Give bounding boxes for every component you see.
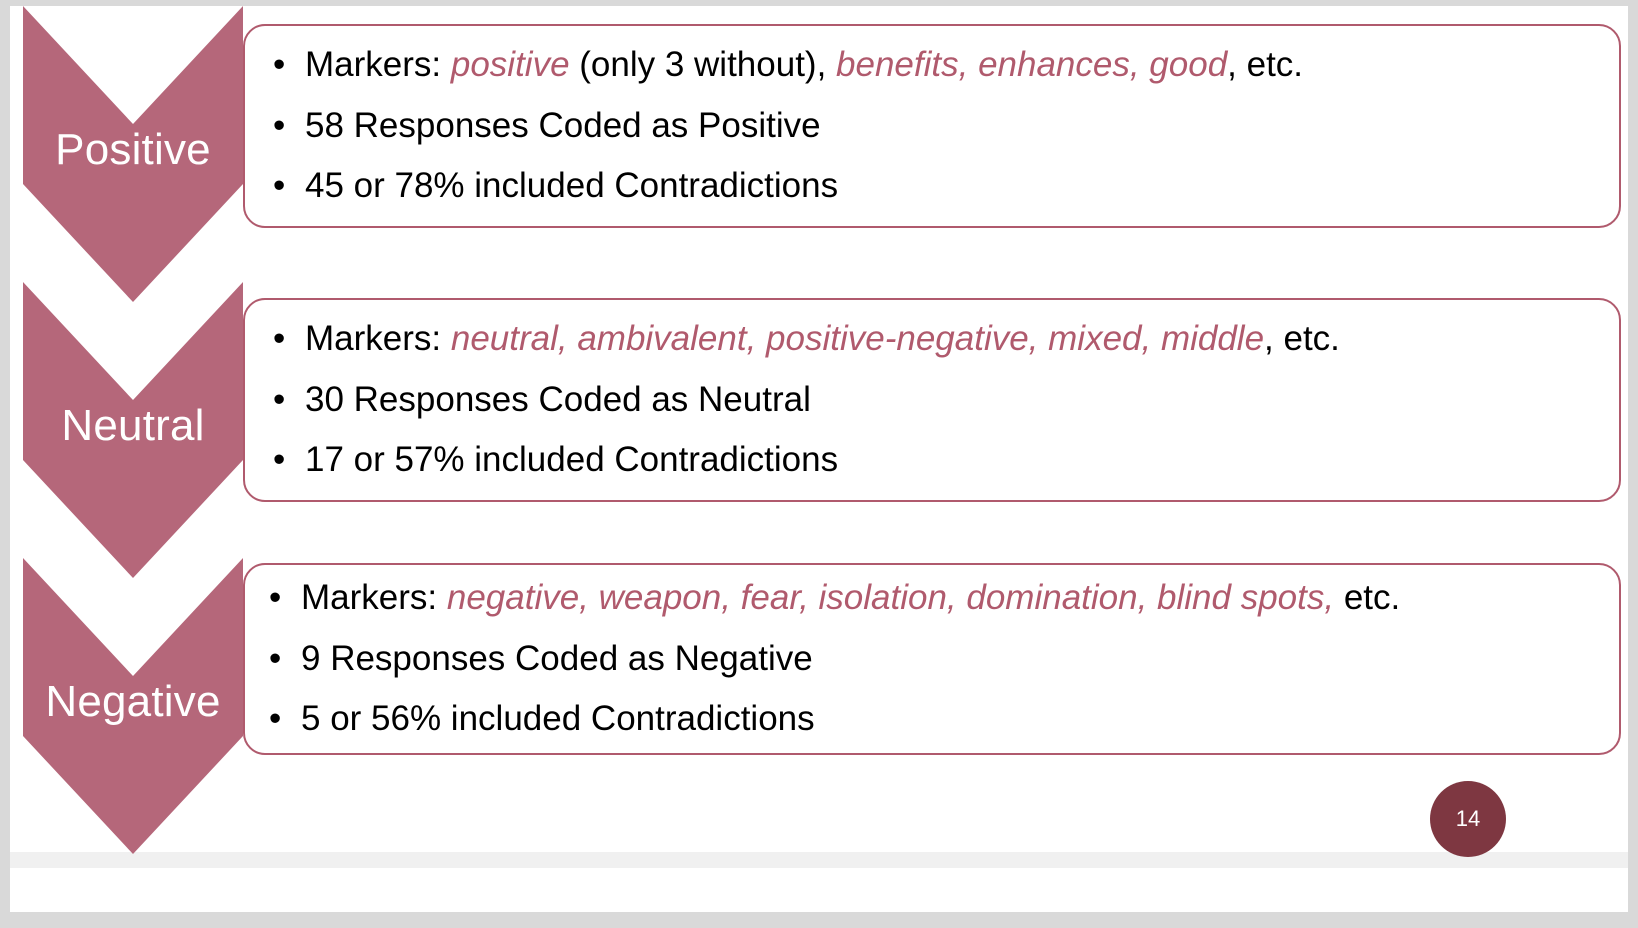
- marker-keyword: negative, weapon, fear, isolation, domin…: [447, 578, 1334, 617]
- content-box-negative: Markers: negative, weapon, fear, isolati…: [243, 563, 1621, 755]
- bullet-text: (only 3 without),: [570, 45, 837, 84]
- bullet-item: 30 Responses Coded as Neutral: [267, 370, 1609, 431]
- bullet-item: 9 Responses Coded as Negative: [263, 629, 1609, 690]
- bullet-item: Markers: positive (only 3 without), bene…: [267, 35, 1609, 96]
- bullet-text: 5 or 56% included Contradictions: [301, 699, 815, 738]
- bullet-list-negative: Markers: negative, weapon, fear, isolati…: [263, 568, 1609, 750]
- bullet-text: , etc.: [1227, 45, 1303, 84]
- content-box-neutral: Markers: neutral, ambivalent, positive-n…: [243, 298, 1621, 502]
- bullet-text: 9 Responses Coded as Negative: [301, 639, 813, 678]
- bullet-text: 30 Responses Coded as Neutral: [305, 380, 811, 419]
- bullet-text: Markers:: [305, 319, 451, 358]
- bullet-text: 17 or 57% included Contradictions: [305, 440, 838, 479]
- bullet-text: , etc.: [1264, 319, 1340, 358]
- bullet-item: 45 or 78% included Contradictions: [267, 156, 1609, 217]
- slide-root: Positive Neutral Negative Markers: posit…: [0, 0, 1638, 928]
- page-number-badge: 14: [1430, 781, 1506, 857]
- bullet-text: Markers:: [301, 578, 447, 617]
- bullet-list-positive: Markers: positive (only 3 without), bene…: [267, 35, 1609, 217]
- bullet-text: etc.: [1334, 578, 1400, 617]
- marker-keyword: positive: [451, 45, 570, 84]
- bullet-text: 58 Responses Coded as Positive: [305, 106, 821, 145]
- bullet-item: Markers: negative, weapon, fear, isolati…: [263, 568, 1609, 629]
- marker-keyword: neutral, ambivalent, positive-negative, …: [451, 319, 1264, 358]
- bullet-text: 45 or 78% included Contradictions: [305, 166, 838, 205]
- content-box-positive: Markers: positive (only 3 without), bene…: [243, 24, 1621, 228]
- bullet-list-neutral: Markers: neutral, ambivalent, positive-n…: [267, 309, 1609, 491]
- bullet-item: 17 or 57% included Contradictions: [267, 430, 1609, 491]
- bullet-item: 58 Responses Coded as Positive: [267, 96, 1609, 157]
- marker-keyword: benefits, enhances, good: [836, 45, 1227, 84]
- bullet-text: Markers:: [305, 45, 451, 84]
- bullet-item: Markers: neutral, ambivalent, positive-n…: [267, 309, 1609, 370]
- bullet-item: 5 or 56% included Contradictions: [263, 689, 1609, 750]
- slide-footer-band: [10, 852, 1628, 868]
